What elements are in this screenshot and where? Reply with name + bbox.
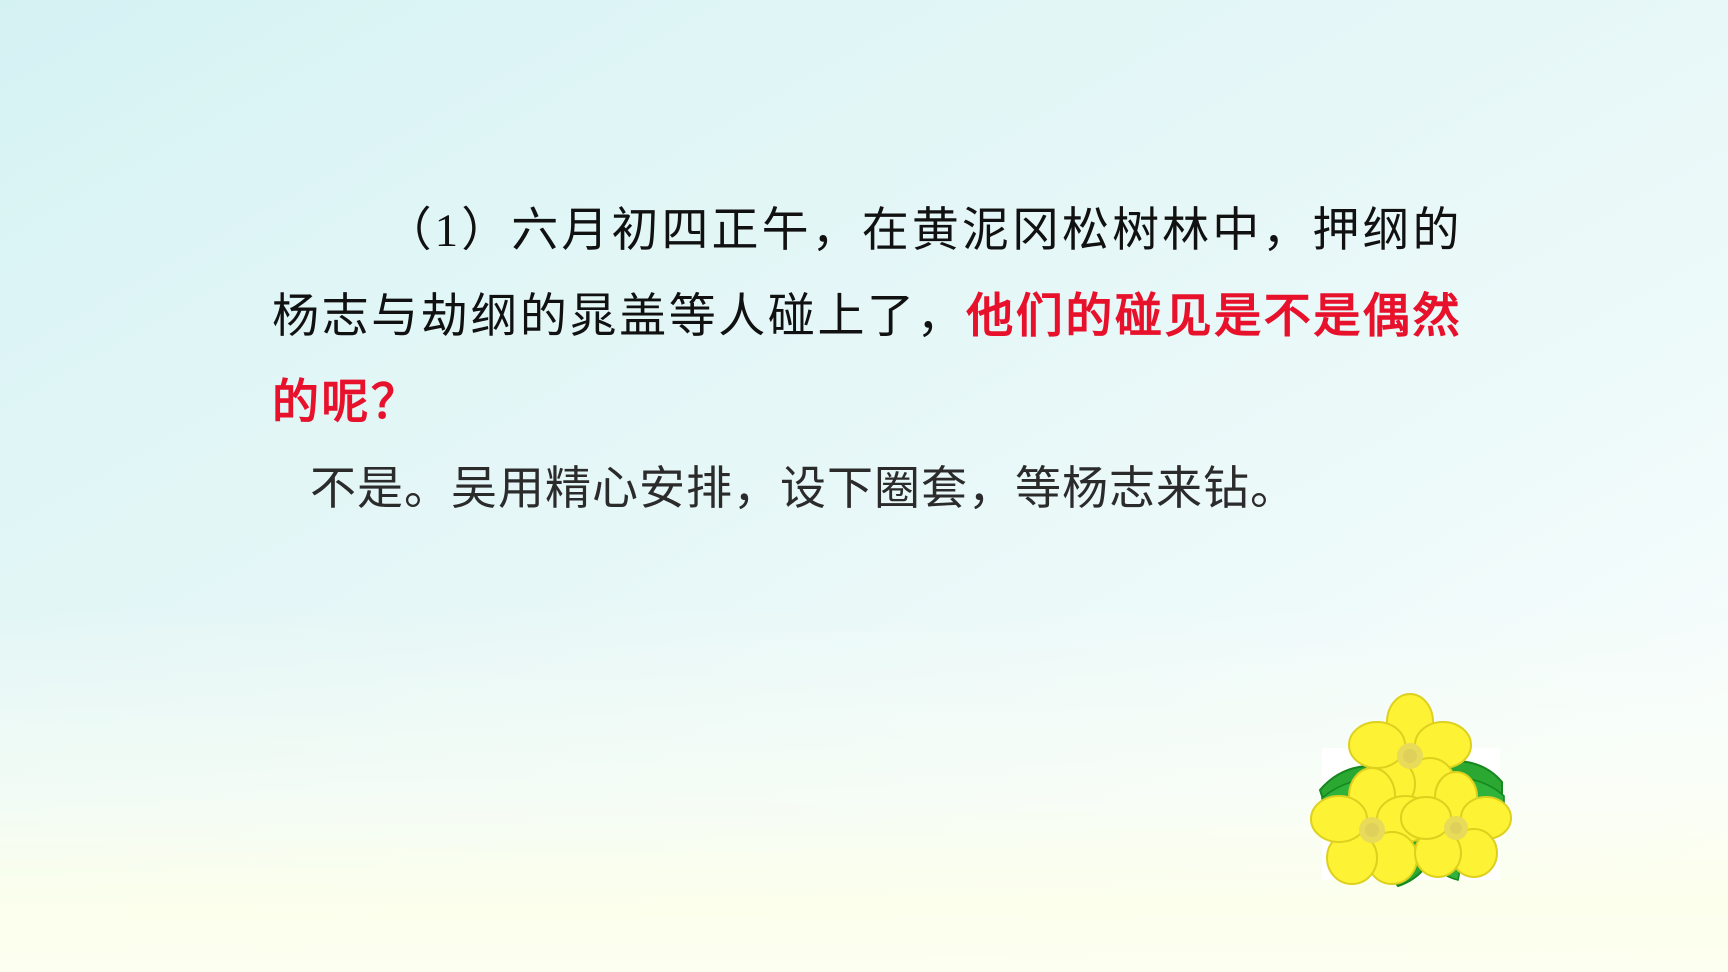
- yellow-flowers-icon: [1306, 678, 1516, 888]
- paragraph-question: （1）六月初四正午，在黄泥冈松树林中，押纲的杨志与劫纲的晁盖等人碰上了，他们的碰…: [272, 188, 1462, 446]
- slide-canvas: （1）六月初四正午，在黄泥冈松树林中，押纲的杨志与劫纲的晁盖等人碰上了，他们的碰…: [0, 0, 1728, 972]
- flower-image-frame: [1322, 748, 1500, 880]
- paragraph-answer: 不是。吴用精心安排，设下圈套，等杨志来钻。: [310, 452, 1510, 524]
